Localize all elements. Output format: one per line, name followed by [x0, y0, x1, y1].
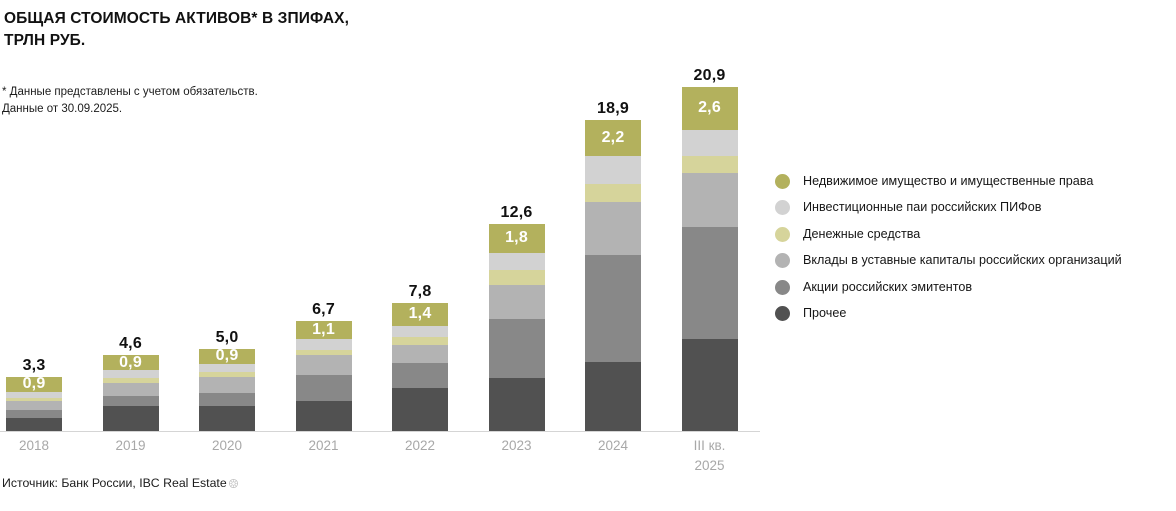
bar-segment[interactable]: 0,9 [103, 355, 159, 370]
bar-segment-label: 1,8 [489, 230, 545, 246]
bar-segment[interactable] [103, 370, 159, 378]
bar-segment[interactable] [585, 362, 641, 431]
legend-item-label: Денежные средства [803, 227, 920, 242]
bar-segment-label: 0,9 [199, 348, 255, 364]
bar-segment-label: 0,9 [6, 376, 62, 392]
x-axis-tick-label: 2022 [385, 436, 455, 456]
x-axis-tick-label: 2024 [578, 436, 648, 456]
bar-segment-label: 0,9 [103, 355, 159, 371]
legend-item-label: Вклады в уставные капиталы российских ор… [803, 253, 1122, 268]
bar-segment[interactable] [6, 392, 62, 399]
legend-item-label: Прочее [803, 306, 846, 321]
bar-segment[interactable] [585, 156, 641, 184]
bar-group[interactable]: 4,60,9 [103, 333, 159, 431]
legend-dot-icon [775, 200, 790, 215]
bar-segment[interactable] [392, 337, 448, 345]
bar-total-label: 18,9 [585, 100, 641, 118]
legend-dot-icon [775, 253, 790, 268]
x-axis-tick-label: 2021 [289, 436, 359, 456]
bar-segment[interactable] [199, 377, 255, 393]
source-text: Источник: Банк России, IBC Real Estate [2, 476, 227, 490]
legend-dot-icon [775, 306, 790, 321]
bar-segment[interactable] [199, 364, 255, 372]
x-axis-tick-label: 2018 [0, 436, 69, 456]
bar-segment[interactable] [682, 339, 738, 431]
bar-stack[interactable]: 1,4 [392, 303, 448, 431]
bar-segment-label: 1,4 [392, 306, 448, 322]
bar-segment[interactable] [296, 355, 352, 375]
bar-segment[interactable] [489, 378, 545, 431]
bar-segment-label: 2,6 [682, 100, 738, 116]
legend-item-label: Недвижимое имущество и имущественные пра… [803, 174, 1093, 189]
ibc-logo-icon [228, 478, 239, 489]
legend-dot-icon [775, 280, 790, 295]
x-axis-tick-label: 2019 [96, 436, 166, 456]
bar-group[interactable]: 18,92,2 [585, 98, 641, 431]
bar-segment[interactable] [6, 410, 62, 418]
bar-segment-label: 2,2 [585, 130, 641, 146]
bar-segment[interactable]: 0,9 [6, 377, 62, 392]
axis-baseline [0, 431, 760, 432]
bar-segment[interactable] [682, 173, 738, 227]
legend-item[interactable]: Акции российских эмитентов [775, 274, 1165, 301]
legend-item[interactable]: Инвестиционные паи российских ПИФов [775, 195, 1165, 222]
x-axis-tick-label: III кв. 2025 [675, 436, 745, 475]
bar-segment[interactable] [103, 406, 159, 431]
bar-group[interactable]: 3,30,9 [6, 355, 62, 431]
bar-segment[interactable] [296, 375, 352, 401]
chart-legend: Недвижимое имущество и имущественные пра… [775, 168, 1165, 327]
legend-item[interactable]: Прочее [775, 301, 1165, 328]
bar-segment[interactable] [199, 406, 255, 431]
bar-group[interactable]: 6,71,1 [296, 299, 352, 431]
chart-plot-area: 3,30,94,60,95,00,96,71,17,81,412,61,818,… [0, 40, 760, 432]
bar-segment[interactable]: 2,2 [585, 120, 641, 156]
bar-stack[interactable]: 0,9 [103, 355, 159, 431]
bar-segment[interactable] [489, 319, 545, 378]
bar-total-label: 5,0 [199, 329, 255, 347]
bar-segment[interactable]: 0,9 [199, 349, 255, 364]
bar-segment[interactable]: 2,6 [682, 87, 738, 130]
bar-stack[interactable]: 2,6 [682, 87, 738, 431]
bar-segment-label: 1,1 [296, 322, 352, 338]
bar-segment[interactable] [296, 339, 352, 351]
bar-total-label: 3,3 [6, 357, 62, 375]
bar-stack[interactable]: 1,8 [489, 224, 545, 431]
bar-segment[interactable] [585, 202, 641, 255]
bar-total-label: 7,8 [392, 283, 448, 301]
bar-segment[interactable]: 1,4 [392, 303, 448, 326]
x-axis-tick-label: 2020 [192, 436, 262, 456]
bar-segment[interactable] [199, 393, 255, 406]
legend-item[interactable]: Денежные средства [775, 221, 1165, 248]
bar-segment[interactable]: 1,8 [489, 224, 545, 254]
bar-segment[interactable] [585, 184, 641, 202]
bar-group[interactable]: 7,81,4 [392, 281, 448, 431]
bar-segment[interactable] [6, 401, 62, 409]
bar-segment[interactable] [489, 285, 545, 320]
source-note: Источник: Банк России, IBC Real Estate [2, 476, 239, 490]
legend-item[interactable]: Вклады в уставные капиталы российских ор… [775, 248, 1165, 275]
bar-total-label: 12,6 [489, 204, 545, 222]
bar-group[interactable]: 20,92,6 [682, 65, 738, 431]
bar-segment[interactable]: 1,1 [296, 321, 352, 339]
bar-segment[interactable] [392, 326, 448, 338]
legend-item[interactable]: Недвижимое имущество и имущественные пра… [775, 168, 1165, 195]
bar-segment[interactable] [6, 418, 62, 431]
legend-dot-icon [775, 227, 790, 242]
bar-total-label: 20,9 [682, 67, 738, 85]
legend-item-label: Инвестиционные паи российских ПИФов [803, 200, 1041, 215]
bar-stack[interactable]: 2,2 [585, 120, 641, 431]
bar-segment[interactable] [296, 401, 352, 431]
bar-segment[interactable] [585, 255, 641, 362]
bar-segment[interactable] [103, 396, 159, 406]
bar-segment[interactable] [682, 227, 738, 339]
bar-segment[interactable] [489, 270, 545, 285]
bar-group[interactable]: 12,61,8 [489, 202, 545, 431]
bar-segment[interactable] [682, 156, 738, 172]
bar-stack[interactable]: 0,9 [6, 377, 62, 431]
bar-stack[interactable]: 1,1 [296, 321, 352, 431]
bar-total-label: 4,6 [103, 335, 159, 353]
bar-stack[interactable]: 0,9 [199, 349, 255, 431]
bar-segment[interactable] [489, 253, 545, 269]
bar-total-label: 6,7 [296, 301, 352, 319]
legend-item-label: Акции российских эмитентов [803, 280, 972, 295]
legend-dot-icon [775, 174, 790, 189]
bar-segment[interactable] [392, 345, 448, 363]
bar-segment[interactable] [103, 383, 159, 396]
bar-segment[interactable] [682, 130, 738, 156]
bar-segment[interactable] [392, 363, 448, 388]
bar-group[interactable]: 5,00,9 [199, 327, 255, 431]
bar-segment[interactable] [392, 388, 448, 431]
x-axis-tick-label: 2023 [482, 436, 552, 456]
